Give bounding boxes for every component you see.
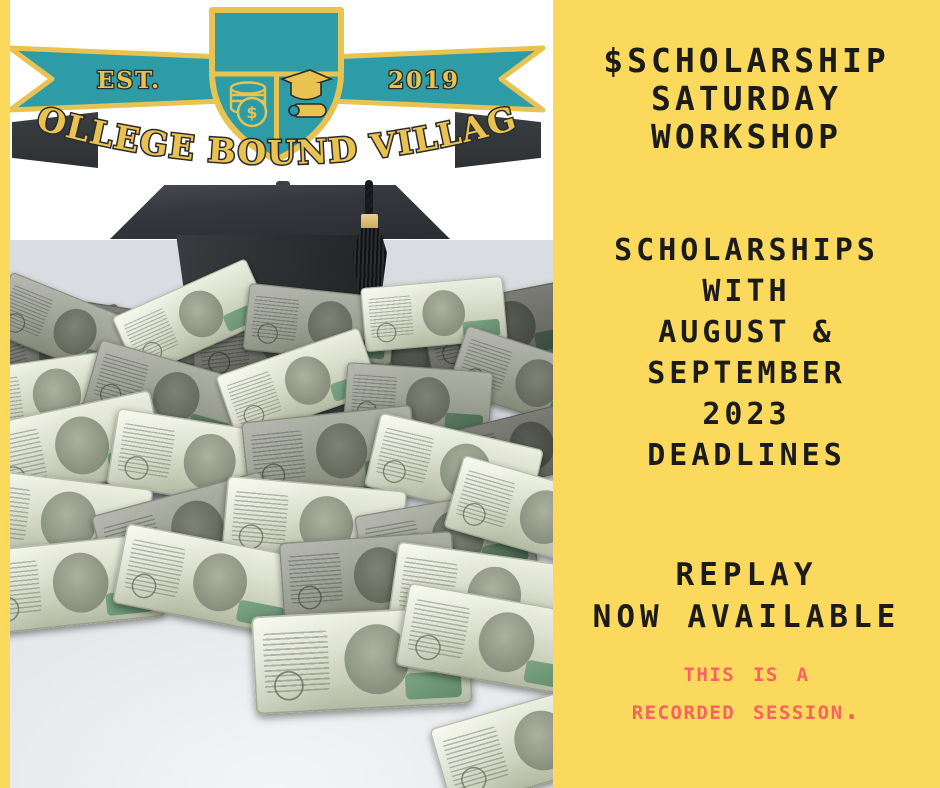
replay-line-1: Replay: [553, 554, 940, 596]
detail-line-5: 2023: [553, 394, 940, 435]
flyer-canvas: $ EST. 2019 COLLE: [0, 0, 940, 788]
note-line-1: This is a: [553, 654, 940, 692]
ribbon-year-text: 2019: [388, 67, 460, 94]
diploma-scroll-icon: [289, 104, 326, 117]
cbv-logo: $ EST. 2019 COLLE: [0, 0, 553, 180]
replay-availability: Replay Now Available: [553, 554, 940, 638]
headline-line-3: Workshop: [553, 118, 940, 156]
left-yellow-edge-strip: [0, 0, 10, 788]
replay-line-2: Now Available: [553, 596, 940, 638]
detail-line-1: Scholarships: [553, 230, 940, 271]
photo-panel: $ EST. 2019 COLLE: [0, 0, 553, 788]
detail-line-6: Deadlines: [553, 435, 940, 476]
detail-line-3: August &: [553, 312, 940, 353]
text-panel: $Scholarship Saturday Workshop Scholarsh…: [553, 0, 940, 788]
headline-line-1: $Scholarship: [553, 42, 940, 80]
headline: $Scholarship Saturday Workshop: [553, 42, 940, 156]
ribbon-est-text: EST.: [97, 67, 161, 94]
detail-line-2: With: [553, 271, 940, 312]
deadline-details: Scholarships With August & September 202…: [553, 230, 940, 476]
headline-line-2: Saturday: [553, 80, 940, 118]
detail-line-4: September: [553, 353, 940, 394]
note-line-2: recorded session.: [553, 692, 940, 730]
svg-text:$: $: [246, 103, 257, 122]
recorded-session-note: This is a recorded session.: [553, 654, 940, 730]
